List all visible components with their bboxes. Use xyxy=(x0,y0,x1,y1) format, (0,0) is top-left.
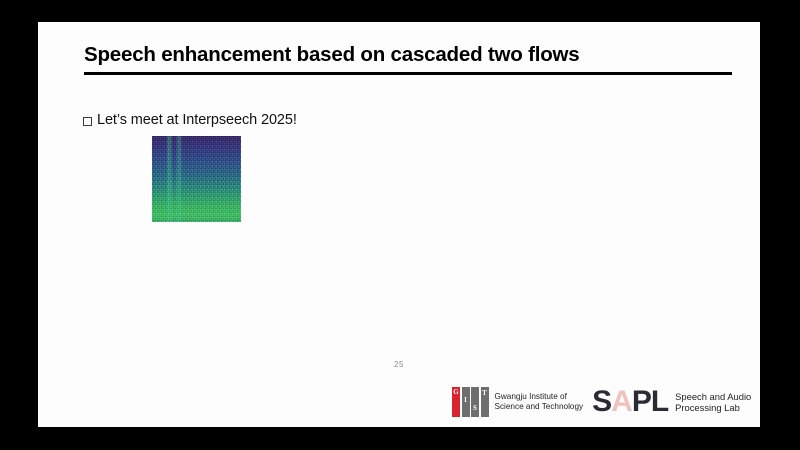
sapl-wordmark-line2: Processing Lab xyxy=(675,402,751,414)
letterbox-bar-left xyxy=(0,0,38,450)
letterbox-bar-top xyxy=(0,0,800,22)
sapl-letter-l: L xyxy=(651,387,668,417)
gist-wordmark-line1: Gwangju Institute of xyxy=(495,392,584,403)
spectrogram-image xyxy=(152,136,241,222)
sapl-logo-wordmark: Speech and Audio Processing Lab xyxy=(675,391,751,414)
slide-surface: Speech enhancement based on cascaded two… xyxy=(38,22,760,427)
title-block: Speech enhancement based on cascaded two… xyxy=(84,42,724,75)
bullet-item: Let’s meet at Interpseech 2025! xyxy=(83,112,297,128)
gist-wordmark-line2: Science and Technology xyxy=(495,402,584,413)
gist-logo-icon: G I S T xyxy=(452,387,489,417)
gist-bar-t: T xyxy=(481,387,489,417)
sapl-letter-p: P xyxy=(632,387,651,417)
gist-bar-t-letter: T xyxy=(481,390,489,397)
gist-logo-wordmark: Gwangju Institute of Science and Technol… xyxy=(495,392,584,413)
spectrogram-noise-layer-c xyxy=(152,136,241,222)
page-title: Speech enhancement based on cascaded two… xyxy=(84,42,724,68)
square-bullet-icon xyxy=(83,117,92,126)
gist-bar-s: S xyxy=(471,387,479,417)
bullet-item-label: Let’s meet at Interpseech 2025! xyxy=(97,112,297,128)
page-number: 25 xyxy=(38,360,760,369)
sapl-letter-s: S xyxy=(592,387,611,417)
letterbox-bar-right xyxy=(760,0,800,450)
gist-bar-g-letter: G xyxy=(452,389,460,396)
sapl-letter-a: A xyxy=(611,387,632,417)
sapl-wordmark-line1: Speech and Audio xyxy=(675,391,751,403)
title-underline-rule xyxy=(84,72,732,75)
footer-logo-strip: G I S T Gwangju Institute of Science and… xyxy=(452,384,751,420)
gist-bar-s-letter: S xyxy=(471,405,479,412)
letterbox-bar-bottom xyxy=(0,427,800,450)
gist-bar-i: I xyxy=(462,387,470,417)
gist-bar-g: G xyxy=(452,387,460,417)
sapl-logo-icon: S A P L xyxy=(592,387,668,417)
gist-bar-i-letter: I xyxy=(462,397,470,404)
slide-stage: Speech enhancement based on cascaded two… xyxy=(0,0,800,450)
